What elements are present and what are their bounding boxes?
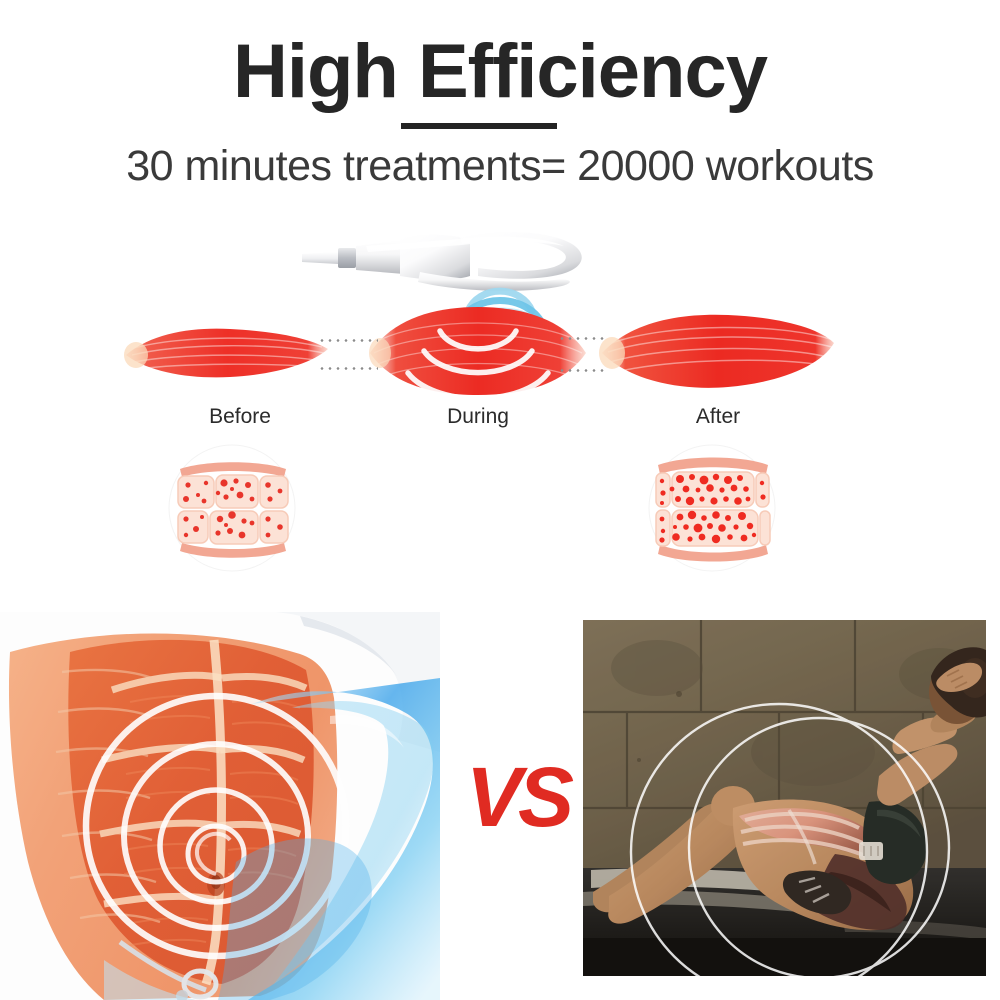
abdomen-treatment-illustration — [0, 612, 440, 1000]
title-underline-rule — [401, 123, 557, 129]
muscle-bundle-before — [122, 315, 332, 391]
stage-label-before: Before — [140, 405, 340, 429]
muscle-bundle-after — [598, 309, 838, 395]
connector-dots-during-after-bottom — [558, 369, 606, 372]
situp-workout-illustration — [583, 620, 986, 976]
muscle-stage-diagram: Before During After — [0, 215, 1000, 605]
vs-badge: VS — [448, 752, 588, 842]
stage-label-after: After — [618, 405, 818, 429]
infographic-page: High Efficiency 30 minutes treatments= 2… — [0, 0, 1000, 1000]
header-section: High Efficiency 30 minutes treatments= 2… — [0, 0, 1000, 210]
stage-label-during: During — [378, 405, 578, 429]
muscle-bundle-during — [368, 303, 588, 399]
connector-dots-before-during-bottom — [318, 367, 378, 370]
muscle-cell-cross-section-before — [162, 443, 302, 573]
abdomen-treatment-photo — [0, 612, 440, 1000]
connector-dots-before-during-top — [318, 339, 378, 342]
page-subtitle: 30 minutes treatments= 20000 workouts — [0, 142, 1000, 191]
page-title: High Efficiency — [0, 34, 1000, 110]
connector-dots-during-after-top — [558, 337, 606, 340]
situp-workout-photo — [583, 620, 986, 976]
muscle-cell-cross-section-after — [642, 443, 782, 573]
